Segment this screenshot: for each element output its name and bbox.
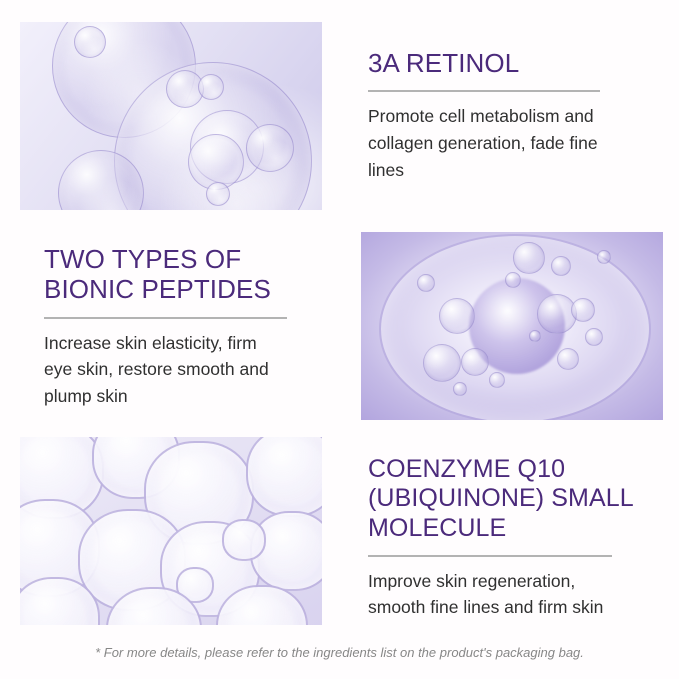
bubble-shape	[453, 382, 467, 396]
bubble-shape	[74, 26, 106, 58]
section-divider	[368, 90, 600, 92]
section-body: Promote cell metabolism and collagen gen…	[368, 103, 660, 183]
section-image-coenzyme-q10	[20, 437, 322, 625]
foam-bubble-shape	[222, 519, 266, 561]
bubble-shape	[505, 272, 521, 288]
section-divider	[368, 555, 612, 557]
section-divider	[44, 317, 287, 319]
section-image-bionic-peptides	[361, 232, 663, 420]
bubble-shape	[461, 348, 489, 376]
bubble-shape	[551, 256, 571, 276]
section-coenzyme-q10: COENZYME Q10 (UBIQUINONE) SMALL MOLECULE…	[20, 437, 663, 625]
bubble-shape	[585, 328, 603, 346]
section-body: Improve skin regeneration, smooth fine l…	[368, 568, 663, 621]
section-bionic-peptides: TWO TYPES OF BIONIC PEPTIDES Increase sk…	[20, 232, 663, 420]
bubble-shape	[246, 124, 294, 172]
footnote-disclaimer: * For more details, please refer to the …	[0, 645, 679, 660]
foam-bubble-shape	[246, 437, 322, 517]
bubble-shape	[513, 242, 545, 274]
section-retinol: 3A RETINOL Promote cell metabolism and c…	[20, 22, 660, 210]
section-heading: 3A RETINOL	[368, 48, 660, 78]
bubble-shape	[417, 274, 435, 292]
bubble-shape	[571, 298, 595, 322]
section-body: Increase skin elasticity, firm eye skin,…	[44, 330, 335, 410]
section-heading: TWO TYPES OF BIONIC PEPTIDES	[44, 244, 335, 305]
bubble-shape	[597, 250, 611, 264]
section-text-retinol: 3A RETINOL Promote cell metabolism and c…	[322, 22, 660, 183]
bubble-shape	[439, 298, 475, 334]
section-image-retinol	[20, 22, 322, 210]
bubble-shape	[489, 372, 505, 388]
section-heading: COENZYME Q10 (UBIQUINONE) SMALL MOLECULE	[368, 455, 663, 543]
bubble-shape	[557, 348, 579, 370]
section-text-bionic-peptides: TWO TYPES OF BIONIC PEPTIDES Increase sk…	[20, 232, 361, 410]
bubble-shape	[198, 74, 224, 100]
bubble-shape	[206, 182, 230, 206]
section-text-coenzyme-q10: COENZYME Q10 (UBIQUINONE) SMALL MOLECULE…	[322, 437, 663, 621]
bubble-shape	[529, 330, 541, 342]
bubble-shape	[423, 344, 461, 382]
ingredient-infographic: 3A RETINOL Promote cell metabolism and c…	[0, 0, 679, 679]
